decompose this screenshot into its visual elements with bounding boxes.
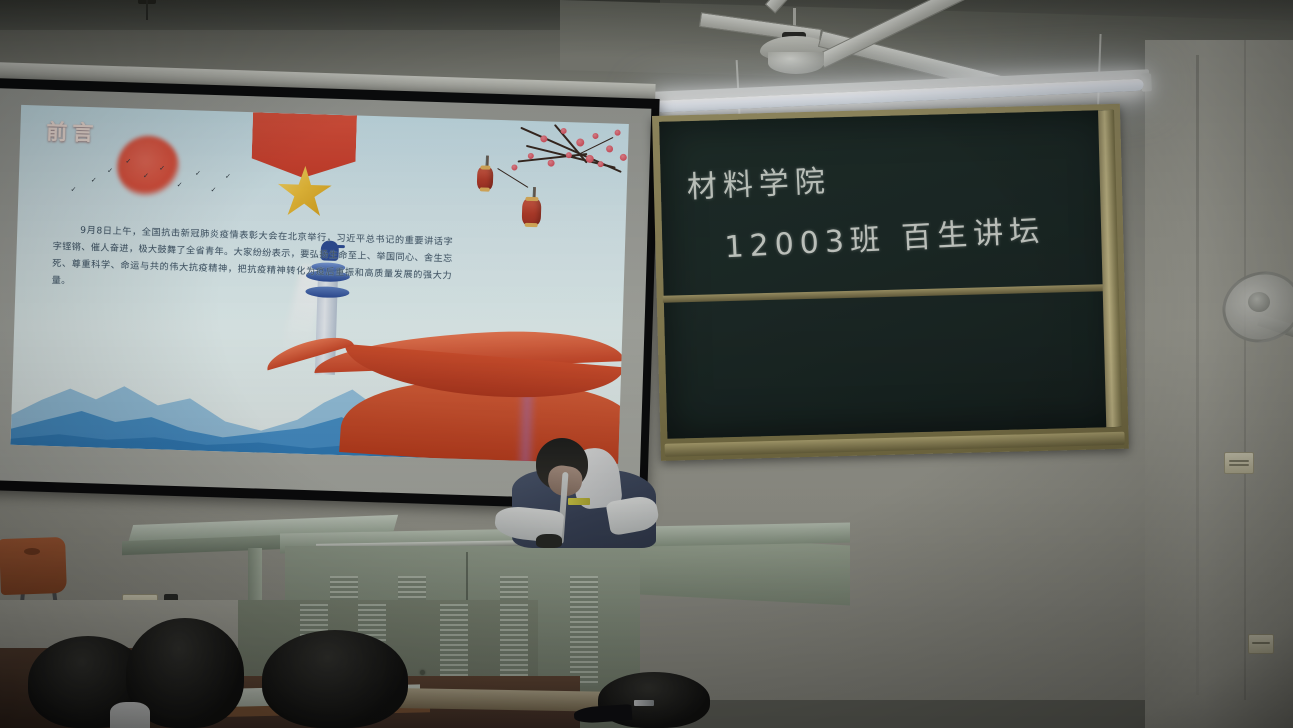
chalk-text-line-1: 材料学院	[686, 156, 832, 206]
right-wall	[1145, 40, 1293, 728]
projector-cable	[146, 0, 148, 20]
bird-icon: ✓	[210, 187, 216, 194]
sun-graphic	[116, 135, 180, 199]
light-switch-upper[interactable]	[1224, 452, 1254, 474]
lantern-icon	[477, 167, 494, 189]
wall-seam	[1196, 55, 1199, 695]
bird-icon: ✓	[125, 158, 131, 165]
blackboard: 材料学院 12003班 百生讲坛	[652, 104, 1129, 461]
slide-body-text: 9月8日上午，全国抗击新冠肺炎疫情表彰大会在北京举行，习近平总书记的重要讲话字字…	[51, 222, 453, 303]
bird-icon: ✓	[91, 177, 97, 184]
bird-icon: ✓	[225, 173, 231, 180]
bird-icon: ✓	[70, 187, 76, 194]
student-head-center	[262, 630, 408, 728]
cap-logo-icon	[634, 700, 654, 706]
bird-icon: ✓	[107, 168, 113, 175]
slide-title: 前言	[20, 115, 125, 148]
classroom-photo: ✓ ✓ ✓ ✓ ✓ ✓ ✓ ✓ ✓ ✓ 前言	[0, 0, 1293, 728]
wall-seam-secondary	[1244, 40, 1246, 700]
presentation-slide: ✓ ✓ ✓ ✓ ✓ ✓ ✓ ✓ ✓ ✓ 前言	[10, 105, 628, 464]
chalk-text-line-2: 12003班 百生讲坛	[723, 206, 1046, 267]
bird-icon: ✓	[177, 182, 183, 189]
lantern-icon	[522, 199, 542, 226]
cabinet-knob	[420, 670, 425, 675]
bird-icon: ✓	[143, 173, 149, 180]
light-switch-lower[interactable]	[1248, 634, 1274, 654]
bird-icon: ✓	[159, 165, 165, 172]
blackboard-surface: 材料学院 12003班 百生讲坛	[659, 110, 1121, 439]
gold-star-icon	[276, 165, 334, 221]
slide-title-banner	[251, 112, 357, 179]
bird-icon: ✓	[195, 170, 201, 177]
student-shoulder	[110, 702, 150, 728]
